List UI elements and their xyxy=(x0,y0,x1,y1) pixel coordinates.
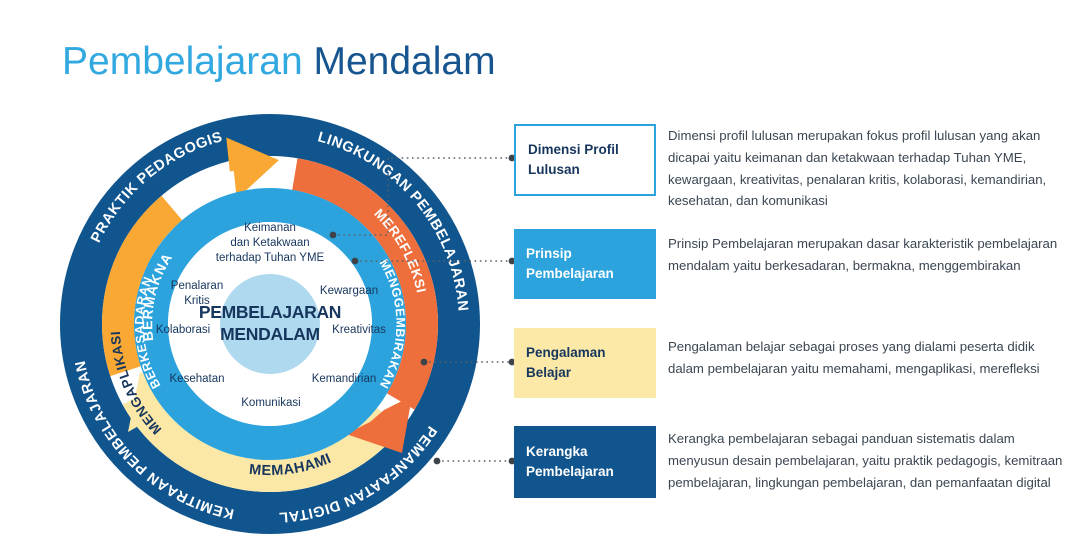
panel-chip-dimensi[interactable]: Dimensi Profil Lulusan xyxy=(514,124,656,196)
panel-body-prinsip: Prinsip Pembelajaran merupakan dasar kar… xyxy=(668,233,1068,277)
dimension-label-keimanan-2: dan Ketakwaan xyxy=(230,237,309,249)
panel-chip-pengalaman[interactable]: Pengalaman Belajar xyxy=(514,328,656,398)
center-title-line2: MENDALAM xyxy=(220,324,320,344)
page-title-part2: Mendalam xyxy=(313,40,495,83)
dimension-label-keimanan-3: terhadap Tuhan YME xyxy=(216,252,325,264)
pembelajaran-mendalam-wheel: LINGKUNGAN PEMBELAJARAN PEMANFAATAN DIGI… xyxy=(50,104,490,544)
dimension-label-keimanan-1: Keimanan xyxy=(244,222,296,234)
panel-chip-prinsip[interactable]: Prinsip Pembelajaran xyxy=(514,229,656,299)
panel-body-pengalaman: Pengalaman belajar sebagai proses yang d… xyxy=(668,336,1068,380)
dimension-label-kesehatan: Kesehatan xyxy=(170,373,225,385)
description-panels: Dimensi Profil Lulusan Dimensi profil lu… xyxy=(505,112,1079,532)
dimension-label-kewargaan: Kewargaan xyxy=(320,285,378,297)
panel-chip-kerangka[interactable]: Kerangka Pembelajaran xyxy=(514,426,656,498)
dimension-label-kemandirian: Kemandirian xyxy=(312,373,377,385)
dimension-label-penalaran-1: Penalaran xyxy=(171,280,223,292)
dimension-label-kreativitas: Kreativitas xyxy=(332,324,386,336)
panel-body-dimensi: Dimensi profil lulusan merupakan fokus p… xyxy=(668,125,1068,212)
panel-pengalaman-belajar: Pengalaman Belajar Pengalaman belajar se… xyxy=(505,328,1079,420)
dimension-label-komunikasi: Komunikasi xyxy=(241,397,300,409)
panel-body-kerangka: Kerangka pembelajaran sebagai panduan si… xyxy=(668,428,1068,493)
panel-prinsip-pembelajaran: Prinsip Pembelajaran Prinsip Pembelajara… xyxy=(505,229,1079,321)
dimension-label-penalaran-2: Kritis xyxy=(184,295,210,307)
panel-kerangka-pembelajaran: Kerangka Pembelajaran Kerangka pembelaja… xyxy=(505,426,1079,526)
page-title: Pembelajaran Mendalam xyxy=(62,40,496,84)
panel-dimensi-profil-lulusan: Dimensi Profil Lulusan Dimensi profil lu… xyxy=(505,124,1079,224)
dimension-label-kolaborasi: Kolaborasi xyxy=(156,324,210,336)
center-title-line1: PEMBELAJARAN xyxy=(199,302,341,322)
page-title-part1: Pembelajaran xyxy=(62,40,313,83)
